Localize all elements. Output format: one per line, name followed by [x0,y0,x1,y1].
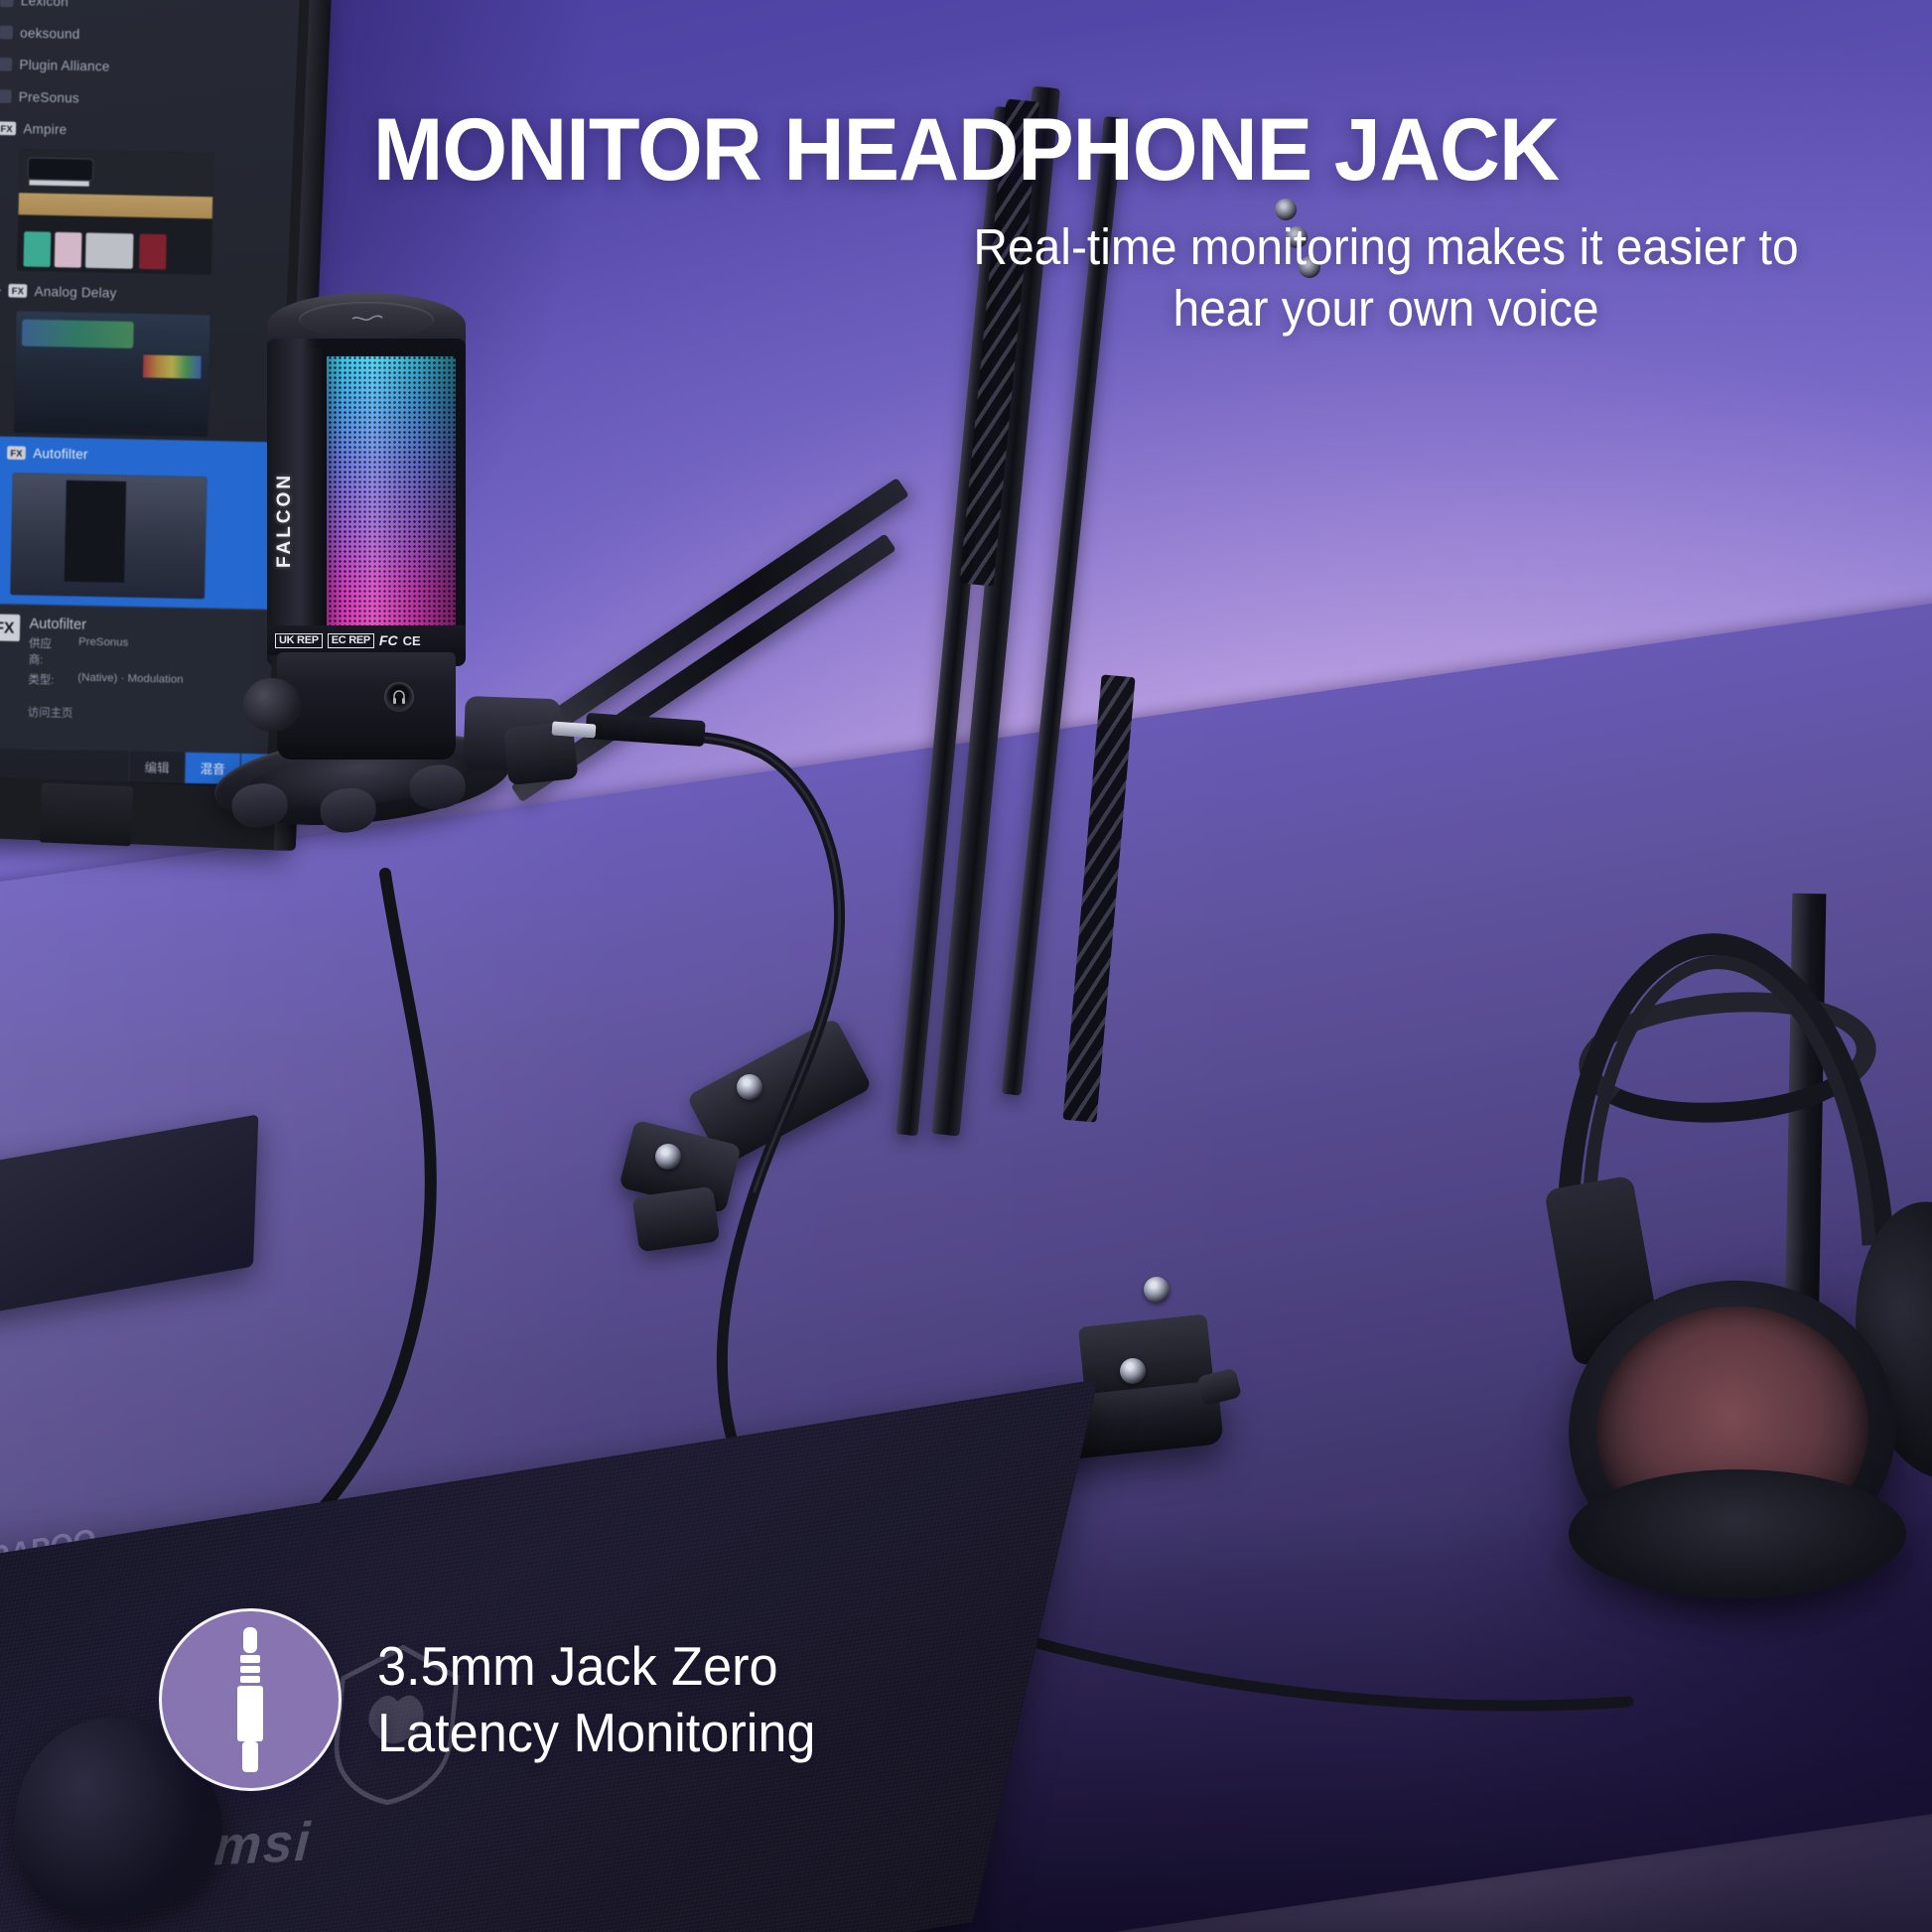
microphone-gain-knob[interactable] [243,678,301,732]
plugin-label: Analog Delay [34,283,116,300]
plugin-vendor-key: 供应商: [29,634,65,668]
plugin-vendor-row: 供应商: PreSonus [29,634,185,671]
folder-icon [0,0,14,7]
cert-ce-icon: CE [403,633,421,648]
analog-delay-preview-thumbnail [14,311,210,437]
pedal-graphic [139,234,167,270]
pedal-graphic [55,232,82,268]
plugin-info-title: Autofilter [29,615,184,634]
headphone-port-icon [392,688,406,705]
page-subtitle: Real-time monitoring makes it easier to … [928,216,1843,340]
plugin-vendor-value: PreSonus [78,635,129,669]
folder-icon [0,89,12,103]
headphone-stand-base [1569,1469,1906,1598]
plugin-label: Plugin Alliance [19,57,109,74]
plugin-type-key: 类型: [28,670,64,687]
plugin-type-value: (Native) · Modulation [77,671,184,690]
feature-badge: 3.5mm Jack Zero Latency Monitoring [159,1608,839,1791]
boom-arm-screw [655,1144,681,1170]
microphone-body: FALCON [267,339,466,666]
headphone-plug-tip [552,721,597,738]
product-marketing-image: Lexicon oeksound Plugin Alliance PreSonu… [0,0,1932,1932]
badge-circle [159,1608,342,1791]
tab-edit[interactable]: 编辑 [128,752,185,783]
autofilter-graphic [10,473,207,599]
fx-icon: FX [0,121,16,135]
pedal-graphic [85,232,134,268]
chevron-right-icon: ▶ [0,285,1,297]
grille-shading [319,356,456,652]
plugin-label: oeksound [20,25,80,42]
cert-fcc-icon: FC [379,632,398,648]
boom-arm-screw [1144,1277,1170,1303]
usb-microphone: FALCON UK REP EC REP FC CE [253,293,482,769]
mute-touch-icon [346,312,388,326]
fx-icon: FX [0,614,20,641]
badge-label: 3.5mm Jack Zero Latency Monitoring [377,1633,815,1766]
plugin-type-row: 类型: (Native) · Modulation [28,670,183,690]
page-title: MONITOR HEADPHONE JACK [49,105,1884,194]
plugin-browser-item-autofilter[interactable]: ▼ FX Autofilter [0,436,295,475]
headphone-jack-plug-icon [207,1625,293,1774]
fx-icon: FX [7,446,26,460]
certification-label-row: UK REP EC REP FC CE [267,625,466,655]
plugin-info-header: FX Autofilter 供应商: PreSonus 类型: (Native)… [0,614,289,692]
plugin-label: PreSonus [19,89,79,106]
microphone-rgb-grille [319,356,456,652]
boom-arm-screw [1120,1358,1146,1384]
pedal-graphic [24,231,52,267]
cert-uk-rep: UK REP [275,633,323,648]
autofilter-preview-thumbnail [10,473,207,599]
cert-ec-rep: EC REP [328,633,374,648]
monitor-stand [40,782,133,846]
boom-arm-joint-small [632,1186,721,1253]
folder-icon [0,58,12,71]
fx-icon: FX [8,284,27,298]
brand-logo-text: FALCON [274,429,296,568]
folder-icon [0,26,13,40]
plugin-label: Lexicon [21,0,69,9]
microphone-base [277,652,456,759]
delay-graphic [14,311,210,437]
microphone-side-strip [301,348,327,658]
mousepad-brand-logo: msi [212,1811,314,1878]
plugin-label: Autofilter [33,446,88,463]
boom-arm-screw [737,1074,762,1100]
